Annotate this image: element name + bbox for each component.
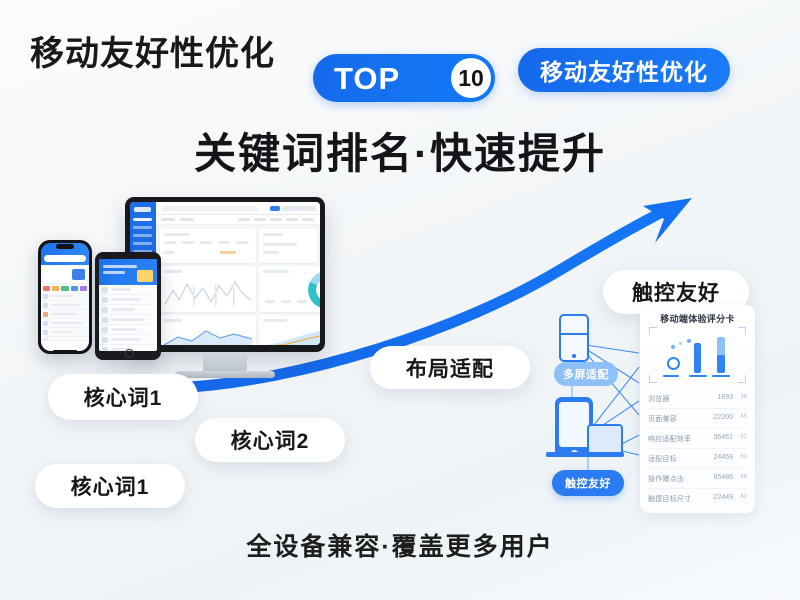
keyword-pill[interactable]: 核心词2 — [195, 418, 345, 462]
page-title: 关键词排名·快速提升 — [0, 120, 800, 181]
row-name: 响应适配效率 — [648, 434, 691, 444]
row-name: 适配目标 — [648, 454, 677, 464]
row-pct: 60 — [740, 454, 747, 460]
table-row: 页面兼容 22200 45 — [648, 409, 747, 429]
row-name: 浏览器 — [648, 394, 670, 404]
row-value: 1693 — [717, 394, 733, 401]
table-row: 适配目标 24459 60 — [648, 449, 747, 469]
score-card-rows: 浏览器 1693 38 页面兼容 22200 45 响应适配效率 36451 5… — [648, 389, 747, 508]
row-name: 页面兼容 — [648, 414, 677, 424]
multi-screen-tag: 多屏适配 — [554, 362, 618, 386]
row-name: 操作曝点击 — [648, 474, 684, 484]
tablet-device — [95, 252, 161, 360]
top-rank-badge: TOP 10 — [313, 54, 495, 102]
row-value: 85486 — [714, 474, 733, 481]
touch-friendly-panel: 多屏适配 触控友好 移动端体验评分卡 浏览 — [540, 305, 795, 520]
small-phone-icon — [559, 314, 589, 362]
top-badge-label: TOP — [334, 63, 400, 94]
row-pct: 45 — [740, 414, 747, 420]
poster-canvas: 移动友好性优化 TOP 10 移动友好性优化 关键词排名·快速提升 — [0, 0, 800, 600]
score-card-title: 移动端体验评分卡 — [640, 312, 755, 325]
footer-tagline: 全设备兼容·覆盖更多用户 — [0, 527, 800, 563]
row-pct: 41 — [740, 494, 747, 500]
phone-device — [38, 240, 92, 354]
row-value: 22200 — [714, 414, 733, 421]
keyword-pill[interactable]: 核心词1 — [48, 374, 198, 420]
row-value: 24459 — [714, 454, 733, 461]
touch-friendly-tag: 触控友好 — [552, 470, 624, 496]
header-pill: 移动友好性优化 — [518, 48, 730, 92]
table-row: 响应适配效率 36451 52 — [648, 429, 747, 449]
row-name: 触摸目标尺寸 — [648, 494, 691, 504]
keyword-pill[interactable]: 布局适配 — [370, 346, 530, 389]
score-card: 移动端体验评分卡 浏览器 1693 38 — [640, 305, 755, 513]
keyword-pill[interactable]: 核心词1 — [35, 464, 185, 508]
row-pct: 48 — [740, 474, 747, 480]
laptop-base — [546, 452, 624, 457]
score-card-chart — [649, 327, 746, 383]
table-row: 触摸目标尺寸 22449 41 — [648, 489, 747, 508]
top-badge-number: 10 — [451, 58, 491, 98]
row-pct: 52 — [740, 434, 747, 440]
table-row: 浏览器 1693 38 — [648, 389, 747, 409]
row-value: 22449 — [714, 494, 733, 501]
row-value: 36451 — [714, 434, 733, 441]
row-pct: 38 — [740, 394, 747, 400]
kicker-text: 移动友好性优化 — [30, 26, 275, 75]
table-row: 操作曝点击 85486 48 — [648, 469, 747, 489]
